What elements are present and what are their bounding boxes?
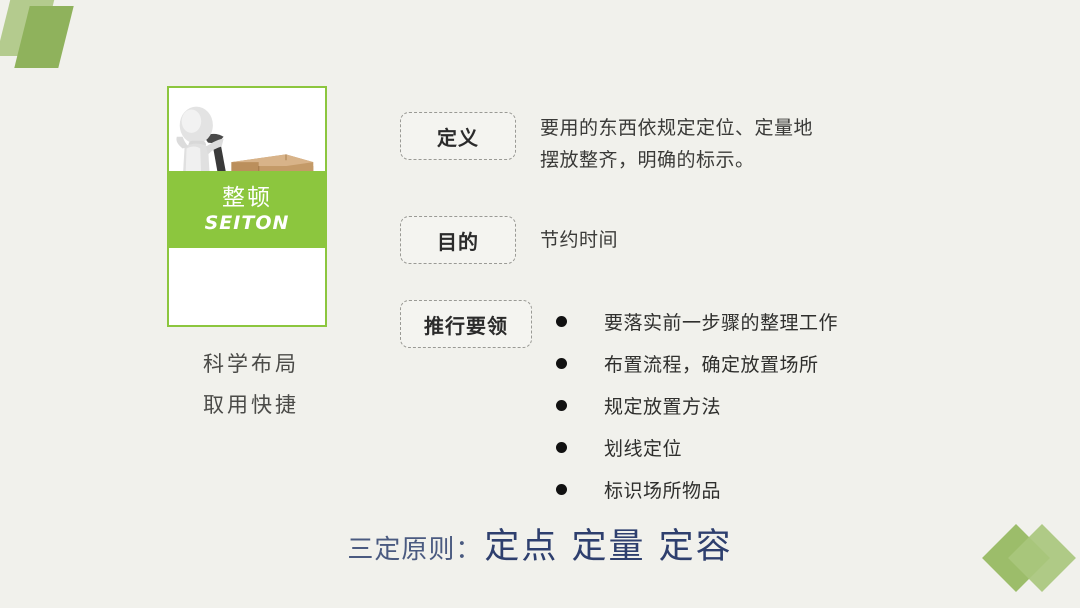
definition-line2: 摆放整齐，明确的标示。 — [540, 144, 813, 176]
decoration-top-left — [0, 0, 110, 90]
card-caption-line1: 科学布局 — [167, 344, 335, 385]
content-rows: 定义 要用的东西依规定定位、定量地 摆放整齐，明确的标示。 目的 节约时间 推行… — [400, 112, 1040, 510]
bullet-dot-icon — [556, 316, 567, 327]
list-item: 布置流程，确定放置场所 — [556, 342, 838, 384]
bullet-dot-icon — [556, 484, 567, 495]
key-points-body: 要落实前一步骤的整理工作 布置流程，确定放置场所 规定放置方法 划线定位 — [556, 300, 838, 510]
definition-line1: 要用的东西依规定定位、定量地 — [540, 112, 813, 144]
card-caption: 科学布局 取用快捷 — [167, 344, 335, 426]
purpose-text: 节约时间 — [540, 216, 618, 264]
tag-definition: 定义 — [400, 112, 516, 160]
list-item: 规定放置方法 — [556, 384, 838, 426]
seiton-card: 整顿 SEITON — [167, 86, 327, 327]
card-title-band: 整顿 SEITON — [169, 171, 325, 248]
key-points-list: 要落实前一步骤的整理工作 布置流程，确定放置场所 规定放置方法 划线定位 — [556, 300, 838, 510]
card-title-en: SEITON — [205, 212, 290, 234]
list-item-label: 规定放置方法 — [604, 392, 721, 419]
list-item-label: 要落实前一步骤的整理工作 — [604, 308, 838, 335]
card-caption-line2: 取用快捷 — [167, 385, 335, 426]
row-key-points: 推行要领 要落实前一步骤的整理工作 布置流程，确定放置场所 规定放置方法 — [400, 300, 1040, 510]
footer-principle: 三定原则：定点 定量 定容 — [0, 518, 1080, 569]
purpose-body: 节约时间 — [540, 216, 618, 264]
card-illustration: 整顿 SEITON — [169, 88, 325, 248]
tag-purpose: 目的 — [400, 216, 516, 264]
list-item-label: 标识场所物品 — [604, 476, 721, 503]
list-item: 要落实前一步骤的整理工作 — [556, 300, 838, 342]
list-item: 划线定位 — [556, 426, 838, 468]
row-purpose: 目的 节约时间 — [400, 216, 1040, 264]
list-item-label: 布置流程，确定放置场所 — [604, 350, 819, 377]
tag-key-points: 推行要领 — [400, 300, 532, 348]
footer-main: 定点 定量 定容 — [484, 527, 732, 567]
list-item-label: 划线定位 — [604, 434, 682, 461]
list-item: 标识场所物品 — [556, 468, 838, 510]
footer-prefix: 三定原则： — [347, 535, 482, 565]
slide-root: 整顿 SEITON 科学布局 取用快捷 定义 要用的东西依规定定位、定量地 摆放… — [0, 0, 1080, 608]
parallelogram-back-icon — [0, 0, 56, 56]
bullet-dot-icon — [556, 400, 567, 411]
definition-body: 要用的东西依规定定位、定量地 摆放整齐，明确的标示。 — [540, 112, 813, 176]
bullet-dot-icon — [556, 442, 567, 453]
parallelogram-front-icon — [14, 6, 73, 68]
bullet-dot-icon — [556, 358, 567, 369]
card-title-cn: 整顿 — [222, 185, 272, 211]
row-definition: 定义 要用的东西依规定定位、定量地 摆放整齐，明确的标示。 — [400, 112, 1040, 176]
